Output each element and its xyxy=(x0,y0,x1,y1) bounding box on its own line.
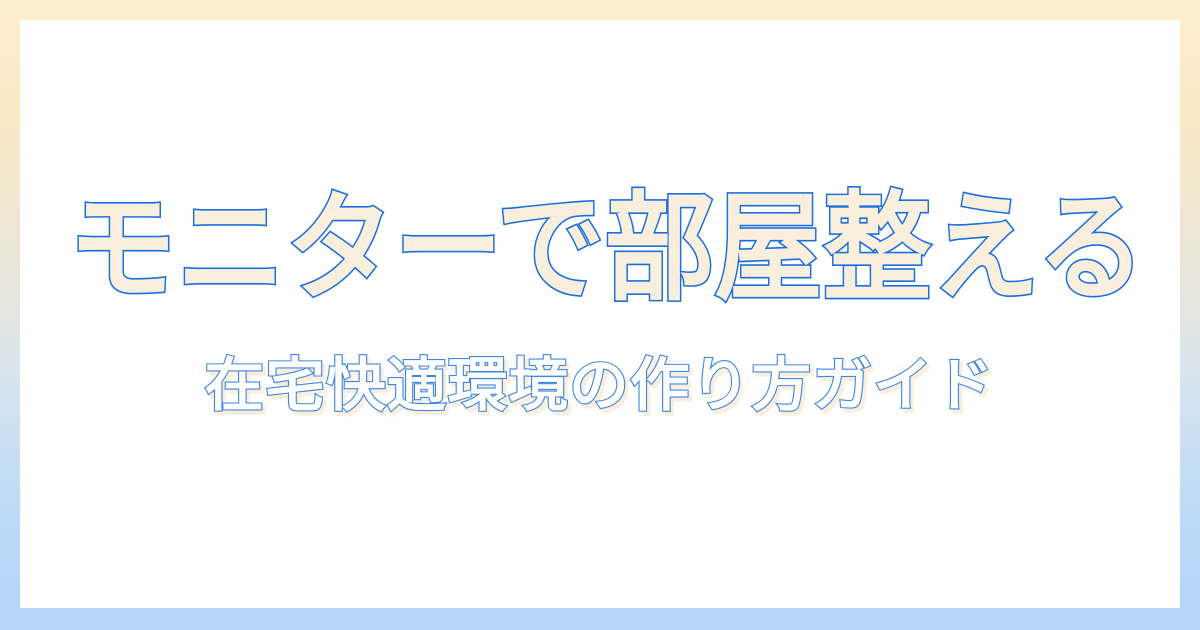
content-card: モニターで部屋整える 在宅快適環境の作り方ガイド 在宅快適環境の作り方ガイド xyxy=(20,20,1180,608)
title-block: モニターで部屋整える xyxy=(20,188,1180,312)
content-card-inner: モニターで部屋整える 在宅快適環境の作り方ガイド 在宅快適環境の作り方ガイド xyxy=(20,20,1180,608)
page-title: モニターで部屋整える xyxy=(68,188,1132,312)
ogp-banner: モニターで部屋整える 在宅快適環境の作り方ガイド 在宅快適環境の作り方ガイド xyxy=(0,0,1200,630)
subtitle-text: 在宅快適環境の作り方ガイド xyxy=(205,353,995,418)
subtitle-block: 在宅快適環境の作り方ガイド 在宅快適環境の作り方ガイド xyxy=(20,354,1180,418)
page-subtitle: 在宅快適環境の作り方ガイド 在宅快適環境の作り方ガイド xyxy=(205,354,995,418)
